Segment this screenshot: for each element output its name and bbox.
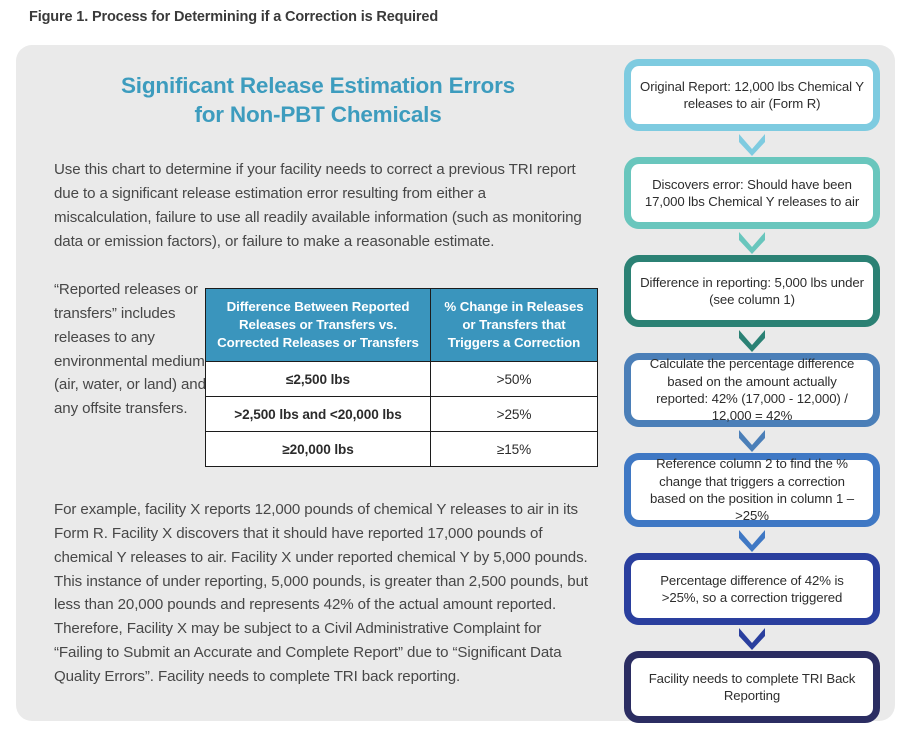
flow-step-6: Percentage difference of 42% is >25%, so…: [614, 553, 890, 625]
arrow-down-icon: [735, 230, 769, 254]
cell-difference: >2,500 lbs and <20,000 lbs: [206, 397, 431, 432]
flow-box-label: Discovers error: Should have been 17,000…: [640, 176, 864, 211]
arrow-down-icon: [735, 132, 769, 156]
arrow-down-icon: [735, 328, 769, 352]
cell-difference: ≥20,000 lbs: [206, 432, 431, 467]
flow-arrow-1: [614, 131, 890, 157]
example-paragraph: For example, facility X reports 12,000 p…: [54, 498, 590, 689]
cell-change: ≥15%: [431, 432, 598, 467]
flow-box-back-reporting: Facility needs to complete TRI Back Repo…: [624, 651, 880, 723]
flow-box-original-report: Original Report: 12,000 lbs Chemical Y r…: [624, 59, 880, 131]
flow-arrow-5: [614, 527, 890, 553]
flow-step-1: Original Report: 12,000 lbs Chemical Y r…: [614, 59, 890, 131]
flow-step-5: Reference column 2 to find the % change …: [614, 453, 890, 527]
table-row: ≤2,500 lbs >50%: [206, 362, 598, 397]
flow-box-label: Original Report: 12,000 lbs Chemical Y r…: [640, 78, 864, 113]
flow-arrow-2: [614, 229, 890, 255]
arrow-down-icon: [735, 428, 769, 452]
definition-paragraph: “Reported releases or transfers” include…: [54, 278, 206, 421]
flow-box-label: Calculate the percentage difference base…: [640, 355, 864, 425]
threshold-table: Difference Between Reported Releases or …: [205, 288, 598, 467]
flow-step-3: Difference in reporting: 5,000 lbs under…: [614, 255, 890, 327]
flow-step-7: Facility needs to complete TRI Back Repo…: [614, 651, 890, 723]
flow-box-label: Facility needs to complete TRI Back Repo…: [640, 670, 864, 705]
table-header-row: Difference Between Reported Releases or …: [206, 289, 598, 362]
flow-box-discovers-error: Discovers error: Should have been 17,000…: [624, 157, 880, 229]
cell-difference: ≤2,500 lbs: [206, 362, 431, 397]
flow-box-label: Difference in reporting: 5,000 lbs under…: [640, 274, 864, 309]
flow-step-4: Calculate the percentage difference base…: [614, 353, 890, 427]
chart-title: Significant Release Estimation Errors fo…: [38, 59, 598, 129]
flow-box-correction-triggered: Percentage difference of 42% is >25%, so…: [624, 553, 880, 625]
table-row: ≥20,000 lbs ≥15%: [206, 432, 598, 467]
flow-box-reference-column-2: Reference column 2 to find the % change …: [624, 453, 880, 527]
flow-box-label: Percentage difference of 42% is >25%, so…: [640, 572, 864, 607]
arrow-down-icon: [735, 626, 769, 650]
chart-title-line-2: for Non-PBT Chemicals: [68, 101, 568, 130]
table-header-change: % Change in Releases or Transfers that T…: [431, 289, 598, 362]
cell-change: >50%: [431, 362, 598, 397]
flow-box-difference-in-reporting: Difference in reporting: 5,000 lbs under…: [624, 255, 880, 327]
flow-step-2: Discovers error: Should have been 17,000…: [614, 157, 890, 229]
cell-change: >25%: [431, 397, 598, 432]
flow-arrow-6: [614, 625, 890, 651]
flow-arrow-4: [614, 427, 890, 453]
flow-box-label: Reference column 2 to find the % change …: [640, 455, 864, 525]
arrow-down-icon: [735, 528, 769, 552]
figure-panel: Significant Release Estimation Errors fo…: [16, 45, 895, 721]
figure-caption: Figure 1. Process for Determining if a C…: [29, 9, 438, 25]
table-body: ≤2,500 lbs >50% >2,500 lbs and <20,000 l…: [206, 362, 598, 467]
left-column: Significant Release Estimation Errors fo…: [38, 59, 598, 707]
table-header-difference: Difference Between Reported Releases or …: [206, 289, 431, 362]
flowchart: Original Report: 12,000 lbs Chemical Y r…: [614, 59, 890, 723]
flow-arrow-3: [614, 327, 890, 353]
chart-title-line-1: Significant Release Estimation Errors: [121, 73, 515, 98]
flow-box-calculate-percentage: Calculate the percentage difference base…: [624, 353, 880, 427]
intro-paragraph: Use this chart to determine if your faci…: [54, 158, 582, 253]
table-row: >2,500 lbs and <20,000 lbs >25%: [206, 397, 598, 432]
